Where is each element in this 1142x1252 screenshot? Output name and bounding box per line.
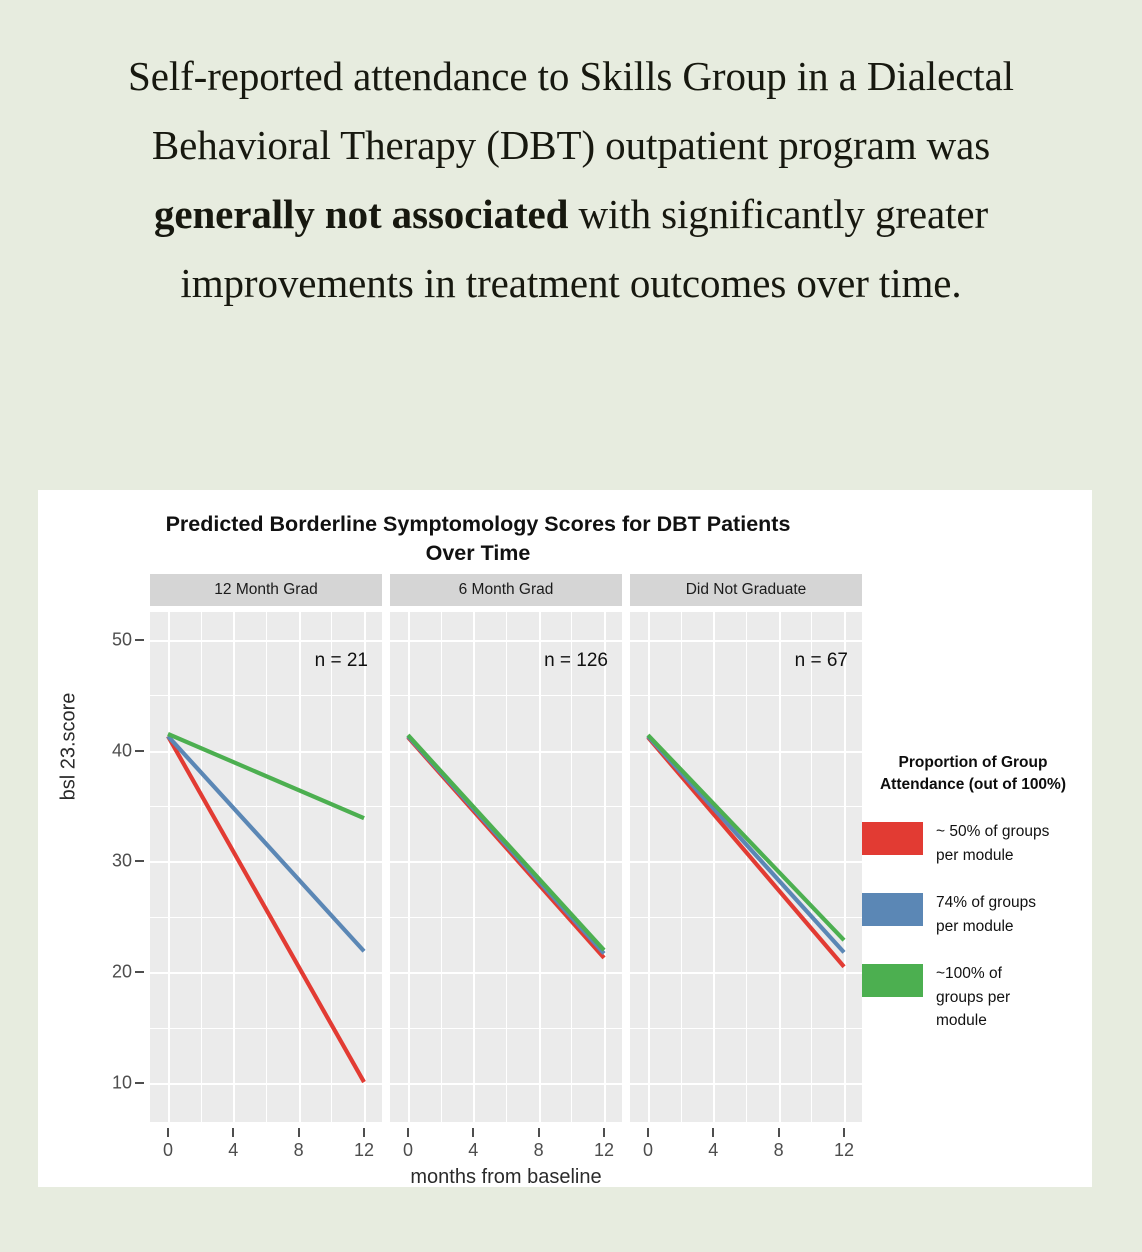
legend-label-line-1: ~ 50% of groups xyxy=(936,820,1049,844)
y-axis: 1020304050 xyxy=(38,612,150,1122)
legend-label-line-2: per module xyxy=(936,915,1036,939)
x-tick-mark xyxy=(712,1128,714,1137)
x-tick-mark xyxy=(778,1128,780,1137)
headline-emphasis: generally not associated xyxy=(154,191,568,237)
x-tick-label: 4 xyxy=(708,1140,718,1161)
series-line xyxy=(168,736,364,1082)
series-lines xyxy=(390,612,622,1122)
headline-statement: Self-reported attendance to Skills Group… xyxy=(40,42,1102,318)
legend-item[interactable]: ~100% of groups per module xyxy=(862,962,1084,1033)
y-tick-label: 20 xyxy=(112,962,132,983)
legend-color-swatch-green xyxy=(862,964,923,997)
legend-label-line-2: per module xyxy=(936,844,1049,868)
y-tick-label: 40 xyxy=(112,740,132,761)
y-tick-mark xyxy=(135,1082,144,1084)
legend-label-line-2: groups per xyxy=(936,986,1010,1010)
chart-legend: Proportion of Group Attendance (out of 1… xyxy=(862,752,1084,1057)
legend-item-label: 74% of groups per module xyxy=(936,891,1036,938)
x-axis-panel-1: 04812 xyxy=(390,1128,622,1164)
facet-panel-12-month-grad: 12 Month Grad n = 21 xyxy=(150,574,382,1122)
facet-panel-6-month-grad: 6 Month Grad n = 126 xyxy=(390,574,622,1122)
x-tick-label: 12 xyxy=(834,1140,854,1161)
legend-color-swatch-blue xyxy=(862,893,923,926)
series-lines xyxy=(150,612,382,1122)
facet-panel-did-not-graduate: Did Not Graduate n = 67 xyxy=(630,574,862,1122)
headline-line-2: Behavioral Therapy (DBT) outpatient prog… xyxy=(40,111,1102,180)
legend-title: Proportion of Group Attendance (out of 1… xyxy=(862,752,1084,796)
plot-panel: n = 67 xyxy=(630,612,862,1122)
legend-item-label: ~ 50% of groups per module xyxy=(936,820,1049,867)
legend-title-line-1: Proportion of Group xyxy=(866,752,1080,774)
legend-item-label: ~100% of groups per module xyxy=(936,962,1010,1033)
series-line xyxy=(168,734,364,818)
headline-line-1: Self-reported attendance to Skills Group… xyxy=(40,42,1102,111)
x-tick-mark xyxy=(603,1128,605,1137)
chart-card: Predicted Borderline Symptomology Scores… xyxy=(38,490,1092,1187)
x-tick-label: 0 xyxy=(403,1140,413,1161)
x-axis-title: months from baseline xyxy=(150,1166,862,1189)
legend-label-line-1: 74% of groups xyxy=(936,891,1036,915)
x-tick-mark xyxy=(472,1128,474,1137)
y-tick-mark xyxy=(135,750,144,752)
y-tick-mark xyxy=(135,639,144,641)
x-tick-mark xyxy=(538,1128,540,1137)
x-tick-mark xyxy=(407,1128,409,1137)
x-tick-label: 8 xyxy=(294,1140,304,1161)
y-tick-mark xyxy=(135,971,144,973)
x-axis-panel-2: 04812 xyxy=(630,1128,862,1164)
plot-area: 1020304050 bsl 23.score 12 Month Grad n … xyxy=(38,490,1092,1187)
headline-line-3: generally not associated with significan… xyxy=(40,180,1102,249)
y-tick-mark xyxy=(135,860,144,862)
x-tick-label: 4 xyxy=(228,1140,238,1161)
x-tick-mark xyxy=(167,1128,169,1137)
y-tick-label: 50 xyxy=(112,629,132,650)
x-tick-label: 8 xyxy=(534,1140,544,1161)
series-line xyxy=(648,735,844,940)
facet-strip-label: 12 Month Grad xyxy=(150,574,382,606)
legend-item[interactable]: ~ 50% of groups per module xyxy=(862,820,1084,867)
x-tick-label: 8 xyxy=(774,1140,784,1161)
x-tick-label: 4 xyxy=(468,1140,478,1161)
legend-label-line-1: ~100% of xyxy=(936,962,1010,986)
y-axis-title: bsl 23.score xyxy=(58,632,81,862)
headline-line-3-tail: with significantly greater xyxy=(568,191,988,237)
series-lines xyxy=(630,612,862,1122)
legend-item[interactable]: 74% of groups per module xyxy=(862,891,1084,938)
plot-panel: n = 21 xyxy=(150,612,382,1122)
x-axis-panel-0: 04812 xyxy=(150,1128,382,1164)
headline-line-4: improvements in treatment outcomes over … xyxy=(40,249,1102,318)
x-tick-label: 0 xyxy=(163,1140,173,1161)
facet-strip-label: 6 Month Grad xyxy=(390,574,622,606)
x-tick-mark xyxy=(843,1128,845,1137)
x-tick-label: 0 xyxy=(643,1140,653,1161)
x-tick-mark xyxy=(363,1128,365,1137)
y-tick-label: 30 xyxy=(112,851,132,872)
x-tick-mark xyxy=(232,1128,234,1137)
y-tick-label: 10 xyxy=(112,1073,132,1094)
legend-color-swatch-red xyxy=(862,822,923,855)
x-tick-mark xyxy=(647,1128,649,1137)
facet-strip-label: Did Not Graduate xyxy=(630,574,862,606)
plot-panel: n = 126 xyxy=(390,612,622,1122)
x-tick-mark xyxy=(298,1128,300,1137)
series-line xyxy=(168,736,364,951)
series-line xyxy=(408,735,604,950)
legend-title-line-2: Attendance (out of 100%) xyxy=(866,774,1080,796)
x-tick-label: 12 xyxy=(594,1140,614,1161)
legend-label-line-3: module xyxy=(936,1009,1010,1033)
x-tick-label: 12 xyxy=(354,1140,374,1161)
